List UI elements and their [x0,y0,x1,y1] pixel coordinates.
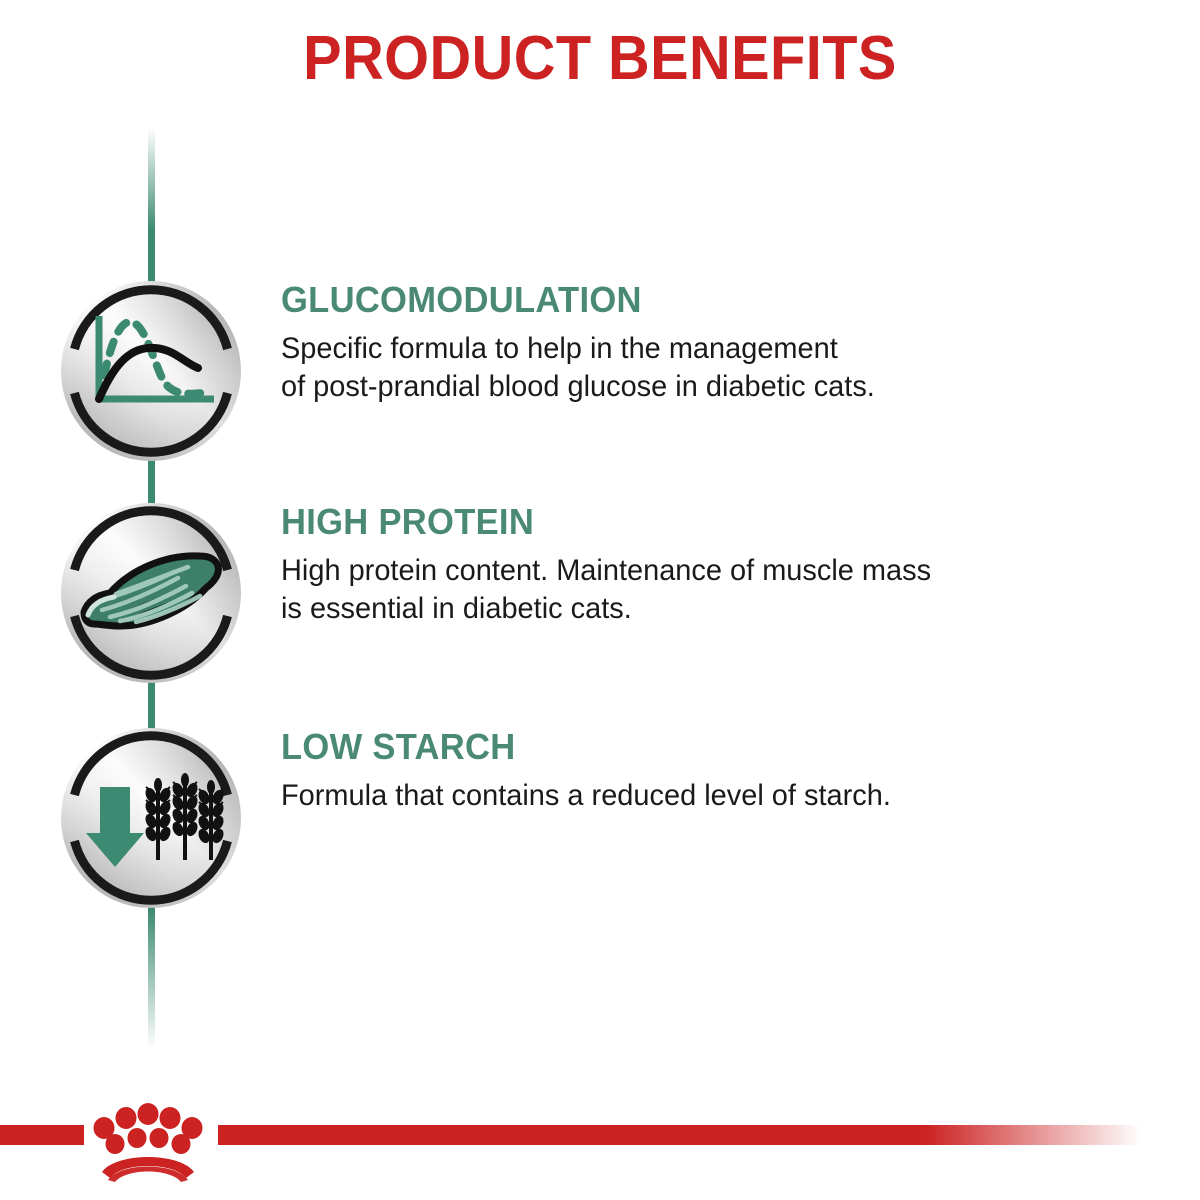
benefit-heading: HIGH PROTEIN [281,504,1049,540]
wheat-down-arrow-icon [58,725,244,911]
page-title: PRODUCT BENEFITS [42,26,1158,91]
benefit-description: Specific formula to help in the manageme… [281,330,1053,406]
royal-canin-crown-logo [82,1096,214,1182]
brand-bar-left [0,1125,84,1145]
benefit-item-glucomodulation: GLUCOMODULATION Specific formula to help… [0,278,1200,468]
muscle-fiber-icon [58,500,244,686]
benefit-heading: GLUCOMODULATION [281,282,1049,318]
benefit-description: Formula that contains a reduced level of… [281,777,1053,815]
benefit-text-block: GLUCOMODULATION Specific formula to help… [281,282,1081,406]
benefit-text-block: LOW STARCH Formula that contains a reduc… [281,729,1081,815]
benefit-item-low-starch: LOW STARCH Formula that contains a reduc… [0,725,1200,915]
brand-bar-right [218,1125,1200,1145]
benefit-description: High protein content. Maintenance of mus… [281,552,1053,628]
benefit-text-block: HIGH PROTEIN High protein content. Maint… [281,504,1081,628]
glucose-curve-icon [58,278,244,464]
benefit-heading: LOW STARCH [281,729,1049,765]
benefit-item-high-protein: HIGH PROTEIN High protein content. Maint… [0,500,1200,690]
